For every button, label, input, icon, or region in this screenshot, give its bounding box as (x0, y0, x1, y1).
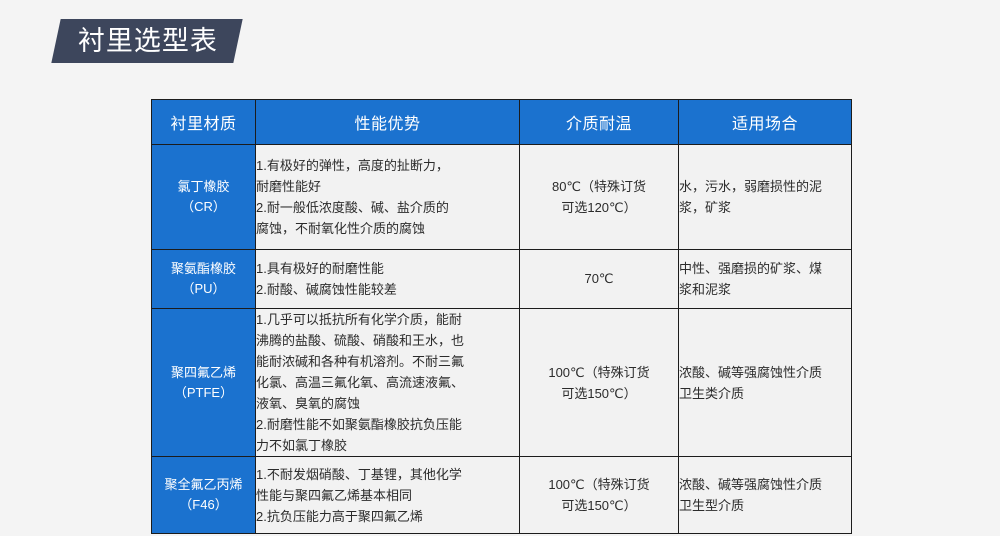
cell-performance-f46: 1.不耐发烟硝酸、丁基锂，其他化学 性能与聚四氟乙烯基本相同 2.抗负压能力高于… (256, 457, 520, 534)
table-body: 氯丁橡胶 （CR） 1.有极好的弹性，高度的扯断力， 耐磨性能好 2.耐一般低浓… (152, 145, 852, 534)
table-row: 聚氨酯橡胶 （PU） 1.具有极好的耐磨性能 2.耐酸、碱腐蚀性能较差 70℃ … (152, 250, 852, 309)
performance-line: 2.耐一般低浓度酸、碱、盐介质的 (256, 197, 519, 218)
material-code: （PTFE） (152, 383, 255, 403)
application-line: 卫生类介质 (679, 383, 851, 404)
page-title-banner: 衬里选型表 (56, 19, 238, 63)
page-title: 衬里选型表 (78, 28, 218, 55)
performance-line: 1.有极好的弹性，高度的扯断力， (256, 155, 519, 176)
application-line: 浆和泥浆 (679, 279, 851, 300)
performance-line: 耐磨性能好 (256, 176, 519, 197)
table-row: 氯丁橡胶 （CR） 1.有极好的弹性，高度的扯断力， 耐磨性能好 2.耐一般低浓… (152, 145, 852, 250)
cell-material-ptfe: 聚四氟乙烯 （PTFE） (152, 309, 256, 457)
performance-line: 力不如氯丁橡胶 (256, 435, 519, 456)
table-header-row: 衬里材质 性能优势 介质耐温 适用场合 (152, 100, 852, 145)
temperature-line: 可选120℃） (520, 197, 678, 218)
material-code: （F46） (152, 495, 255, 515)
application-line: 浓酸、碱等强腐蚀性介质 (679, 362, 851, 383)
performance-line: 化氯、高温三氟化氧、高流速液氟、 (256, 372, 519, 393)
cell-temperature-pu: 70℃ (520, 250, 679, 309)
cell-application-ptfe: 浓酸、碱等强腐蚀性介质 卫生类介质 (679, 309, 852, 457)
application-line: 水，污水，弱磨损性的泥 (679, 176, 851, 197)
column-header-temperature: 介质耐温 (520, 100, 679, 145)
column-header-material: 衬里材质 (152, 100, 256, 145)
temperature-line: 可选150℃） (520, 383, 678, 404)
cell-performance-cr: 1.有极好的弹性，高度的扯断力， 耐磨性能好 2.耐一般低浓度酸、碱、盐介质的 … (256, 145, 520, 250)
application-line: 浆，矿浆 (679, 197, 851, 218)
performance-line: 性能与聚四氟乙烯基本相同 (256, 485, 519, 506)
cell-material-pu: 聚氨酯橡胶 （PU） (152, 250, 256, 309)
table-row: 聚四氟乙烯 （PTFE） 1.几乎可以抵抗所有化学介质，能耐 沸腾的盐酸、硫酸、… (152, 309, 852, 457)
performance-line: 腐蚀，不耐氧化性介质的腐蚀 (256, 218, 519, 239)
performance-line: 2.抗负压能力高于聚四氟乙烯 (256, 506, 519, 527)
column-header-application: 适用场合 (679, 100, 852, 145)
material-name: 氯丁橡胶 (152, 177, 255, 197)
temperature-line: 100℃（特殊订货 (520, 362, 678, 383)
temperature-line: 70℃ (520, 268, 678, 289)
cell-temperature-f46: 100℃（特殊订货 可选150℃） (520, 457, 679, 534)
material-code: （CR） (152, 197, 255, 217)
cell-application-pu: 中性、强磨损的矿浆、煤 浆和泥浆 (679, 250, 852, 309)
cell-application-cr: 水，污水，弱磨损性的泥 浆，矿浆 (679, 145, 852, 250)
application-line: 中性、强磨损的矿浆、煤 (679, 258, 851, 279)
cell-temperature-cr: 80℃（特殊订货 可选120℃） (520, 145, 679, 250)
cell-application-f46: 浓酸、碱等强腐蚀性介质 卫生型介质 (679, 457, 852, 534)
performance-line: 1.不耐发烟硝酸、丁基锂，其他化学 (256, 464, 519, 485)
performance-line: 2.耐磨性能不如聚氨酯橡胶抗负压能 (256, 414, 519, 435)
temperature-line: 可选150℃） (520, 495, 678, 516)
application-line: 浓酸、碱等强腐蚀性介质 (679, 474, 851, 495)
performance-line: 能耐浓碱和各种有机溶剂。不耐三氟 (256, 351, 519, 372)
lining-selection-table-container: 衬里材质 性能优势 介质耐温 适用场合 氯丁橡胶 （CR） 1.有极好的弹性，高… (151, 99, 851, 534)
column-header-performance: 性能优势 (256, 100, 520, 145)
lining-selection-table: 衬里材质 性能优势 介质耐温 适用场合 氯丁橡胶 （CR） 1.有极好的弹性，高… (151, 99, 852, 534)
material-name: 聚四氟乙烯 (152, 363, 255, 383)
table-header: 衬里材质 性能优势 介质耐温 适用场合 (152, 100, 852, 145)
performance-line: 液氧、臭氧的腐蚀 (256, 393, 519, 414)
material-name: 聚全氟乙丙烯 (152, 475, 255, 495)
banner-shape: 衬里选型表 (51, 19, 242, 63)
performance-line: 沸腾的盐酸、硫酸、硝酸和王水，也 (256, 330, 519, 351)
performance-line: 1.几乎可以抵抗所有化学介质，能耐 (256, 309, 519, 330)
cell-material-f46: 聚全氟乙丙烯 （F46） (152, 457, 256, 534)
cell-temperature-ptfe: 100℃（特殊订货 可选150℃） (520, 309, 679, 457)
cell-performance-ptfe: 1.几乎可以抵抗所有化学介质，能耐 沸腾的盐酸、硫酸、硝酸和王水，也 能耐浓碱和… (256, 309, 520, 457)
temperature-line: 80℃（特殊订货 (520, 176, 678, 197)
material-name: 聚氨酯橡胶 (152, 259, 255, 279)
cell-material-cr: 氯丁橡胶 （CR） (152, 145, 256, 250)
material-code: （PU） (152, 279, 255, 299)
temperature-line: 100℃（特殊订货 (520, 474, 678, 495)
performance-line: 2.耐酸、碱腐蚀性能较差 (256, 279, 519, 300)
application-line: 卫生型介质 (679, 495, 851, 516)
performance-line: 1.具有极好的耐磨性能 (256, 258, 519, 279)
table-row: 聚全氟乙丙烯 （F46） 1.不耐发烟硝酸、丁基锂，其他化学 性能与聚四氟乙烯基… (152, 457, 852, 534)
cell-performance-pu: 1.具有极好的耐磨性能 2.耐酸、碱腐蚀性能较差 (256, 250, 520, 309)
